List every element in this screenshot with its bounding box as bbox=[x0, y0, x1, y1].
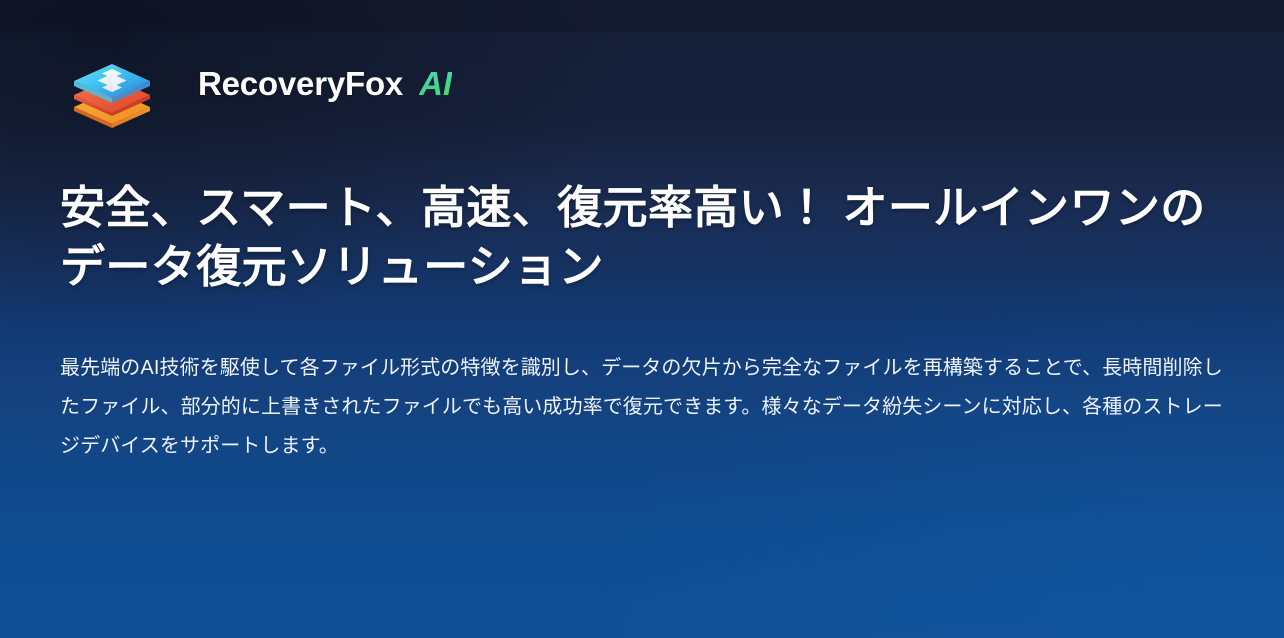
hero-description: 最先端のAI技術を駆使して各ファイル形式の特徴を識別し、データの欠片から完全なフ… bbox=[60, 297, 1224, 466]
headline-line-1: 安全、スマート、高速、復元率高い！ オールインワンの bbox=[60, 182, 1206, 233]
recoveryfox-stacked-layers-icon bbox=[64, 36, 160, 132]
hero-banner: RecoveryFox AI 安全、スマート、高速、復元率高い！ オールインワン… bbox=[0, 0, 1284, 638]
headline-line-2: データ復元ソリューション bbox=[60, 241, 604, 292]
brand-header: RecoveryFox AI bbox=[60, 0, 1224, 104]
brand-name: RecoveryFox bbox=[198, 67, 403, 100]
page-title: 安全、スマート、高速、復元率高い！ オールインワンの データ復元ソリューション bbox=[60, 104, 1224, 297]
brand-ai-badge: AI bbox=[419, 67, 452, 100]
